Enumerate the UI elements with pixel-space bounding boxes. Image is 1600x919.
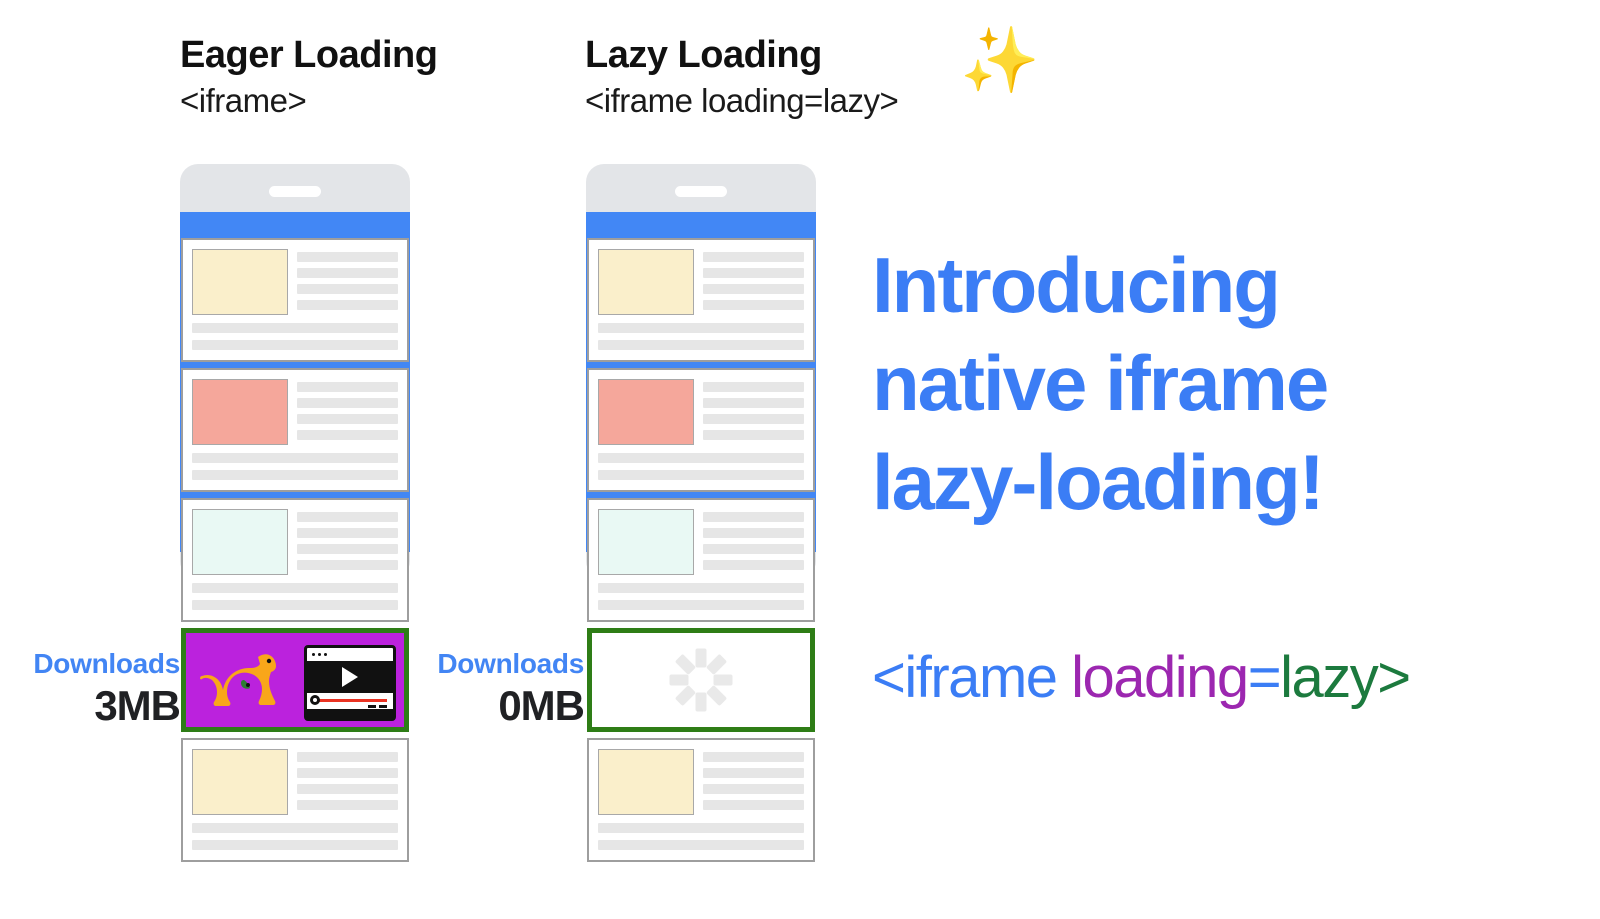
text-line bbox=[598, 340, 804, 350]
article-feed-lazy bbox=[578, 164, 824, 868]
loading-spinner-icon bbox=[669, 648, 733, 712]
text-line bbox=[703, 382, 804, 392]
downloads-stat-lazy: Downloads 0MB bbox=[404, 648, 584, 730]
article-feed-eager bbox=[172, 164, 418, 868]
play-icon bbox=[342, 667, 358, 687]
text-line bbox=[703, 284, 804, 294]
article-card bbox=[587, 738, 815, 862]
sparkles-icon: ✨ bbox=[960, 28, 1040, 92]
code-tag: <iframe bbox=[872, 645, 1057, 710]
text-line bbox=[297, 382, 398, 392]
text-line bbox=[703, 300, 804, 310]
code-value: lazy> bbox=[1280, 645, 1410, 710]
article-card bbox=[181, 238, 409, 362]
text-line bbox=[297, 768, 398, 778]
article-card bbox=[181, 368, 409, 492]
article-thumbnail bbox=[192, 379, 288, 445]
text-line bbox=[703, 414, 804, 424]
text-line bbox=[703, 752, 804, 762]
text-line bbox=[192, 823, 398, 833]
downloads-label: Downloads bbox=[0, 648, 180, 680]
downloads-value: 0MB bbox=[404, 682, 584, 730]
text-line bbox=[297, 752, 398, 762]
text-line bbox=[598, 323, 804, 333]
text-line bbox=[703, 800, 804, 810]
text-line bbox=[297, 268, 398, 278]
article-card bbox=[181, 498, 409, 622]
text-line bbox=[192, 323, 398, 333]
downloads-stat-eager: Downloads 3MB bbox=[0, 648, 180, 730]
text-line bbox=[598, 840, 804, 850]
code-attribute: loading bbox=[1057, 645, 1248, 710]
code-snippet: <iframe loading=lazy> bbox=[872, 644, 1410, 711]
text-line bbox=[703, 398, 804, 408]
eager-code: <iframe> bbox=[180, 82, 437, 120]
article-card bbox=[181, 738, 409, 862]
column-heading-eager: Eager Loading <iframe> bbox=[180, 36, 437, 120]
article-thumbnail bbox=[598, 509, 694, 575]
text-line bbox=[297, 784, 398, 794]
article-card bbox=[587, 368, 815, 492]
eager-title: Eager Loading bbox=[180, 36, 437, 76]
column-heading-lazy: Lazy Loading <iframe loading=lazy> bbox=[585, 36, 898, 120]
text-line bbox=[703, 268, 804, 278]
article-thumbnail bbox=[598, 249, 694, 315]
text-line bbox=[192, 470, 398, 480]
text-line bbox=[297, 398, 398, 408]
text-line bbox=[598, 453, 804, 463]
text-line bbox=[703, 252, 804, 262]
infographic-canvas: Eager Loading <iframe> Lazy Loading <ifr… bbox=[0, 0, 1600, 919]
article-thumbnail bbox=[598, 749, 694, 815]
text-line bbox=[598, 583, 804, 593]
text-line bbox=[703, 784, 804, 794]
downloads-label: Downloads bbox=[404, 648, 584, 680]
code-equals: = bbox=[1248, 645, 1280, 710]
text-line bbox=[703, 512, 804, 522]
text-line bbox=[297, 414, 398, 424]
article-thumbnail bbox=[192, 249, 288, 315]
text-line bbox=[703, 544, 804, 554]
text-line bbox=[703, 430, 804, 440]
article-card bbox=[587, 498, 815, 622]
text-line bbox=[297, 560, 398, 570]
article-thumbnail bbox=[192, 749, 288, 815]
downloads-value: 3MB bbox=[0, 682, 180, 730]
text-line bbox=[192, 600, 398, 610]
text-line bbox=[297, 430, 398, 440]
lazy-code: <iframe loading=lazy> bbox=[585, 82, 898, 120]
article-thumbnail bbox=[192, 509, 288, 575]
text-line bbox=[297, 544, 398, 554]
article-thumbnail bbox=[598, 379, 694, 445]
text-line bbox=[297, 284, 398, 294]
text-line bbox=[598, 470, 804, 480]
text-line bbox=[703, 560, 804, 570]
text-line bbox=[598, 823, 804, 833]
text-line bbox=[297, 300, 398, 310]
text-line bbox=[703, 768, 804, 778]
text-line bbox=[297, 800, 398, 810]
text-line bbox=[598, 600, 804, 610]
page-title: Introducing native iframe lazy-loading! bbox=[872, 236, 1492, 531]
text-line bbox=[192, 583, 398, 593]
iframe-embed-loaded[interactable] bbox=[181, 628, 409, 732]
text-line bbox=[703, 528, 804, 538]
text-line bbox=[297, 252, 398, 262]
text-line bbox=[297, 528, 398, 538]
text-line bbox=[192, 840, 398, 850]
iframe-embed-placeholder[interactable] bbox=[587, 628, 815, 732]
video-player-icon bbox=[304, 645, 396, 721]
lazy-title: Lazy Loading bbox=[585, 36, 898, 76]
article-card bbox=[587, 238, 815, 362]
text-line bbox=[192, 453, 398, 463]
text-line bbox=[192, 340, 398, 350]
text-line bbox=[297, 512, 398, 522]
dog-icon bbox=[200, 647, 300, 721]
